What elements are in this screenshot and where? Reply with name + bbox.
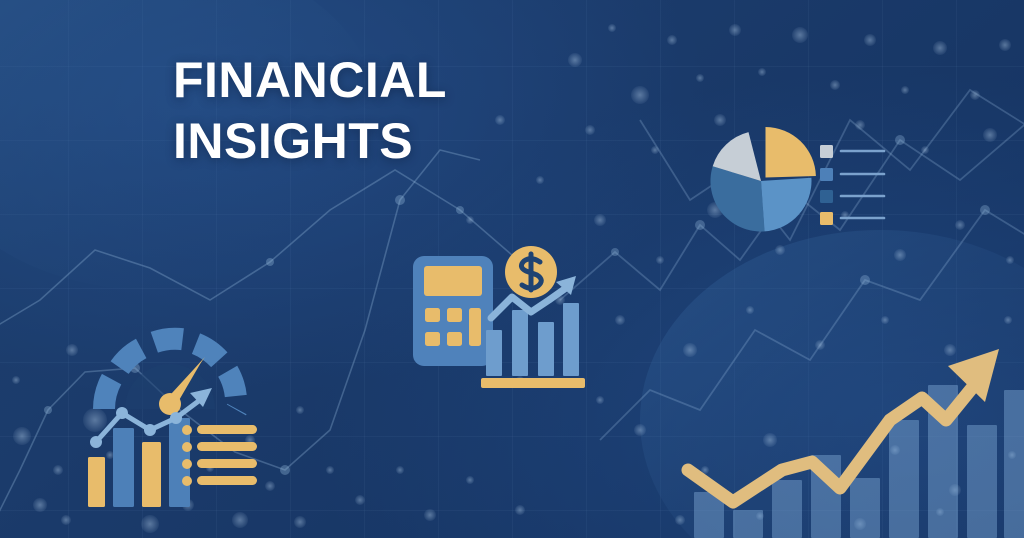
pie-legend — [820, 145, 884, 225]
title-line-1: FINANCIAL — [173, 50, 603, 111]
calculator-trend-arrow — [491, 276, 576, 318]
page-title: FINANCIAL INSIGHTS — [173, 50, 603, 172]
gauge-arc-inner — [125, 364, 215, 409]
background-line-chart-right — [560, 90, 1024, 440]
background-line-chart-left — [0, 150, 520, 530]
pie-slice-4 — [710, 166, 764, 231]
dollar-coin-icon — [505, 246, 557, 298]
legend-swatch-3 — [820, 190, 833, 203]
pie-slice-1 — [713, 132, 761, 181]
financial-insights-banner: FINANCIAL INSIGHTS — [0, 0, 1024, 538]
legend-swatch-2 — [820, 168, 833, 181]
gauge-needle — [159, 357, 205, 415]
background-line-markers-left — [44, 195, 464, 475]
legend-swatch-4 — [820, 212, 833, 225]
calculator-baseline — [481, 378, 585, 388]
gauge-mini-line — [90, 388, 212, 448]
growth-trend-arrow — [688, 349, 999, 502]
gauge-mini-bar-chart — [88, 418, 190, 507]
title-line-2: INSIGHTS — [173, 111, 603, 172]
pie-slice-2 — [766, 127, 816, 178]
legend-swatch-1 — [820, 145, 833, 158]
growth-bars — [694, 385, 1024, 538]
pie-slice-3 — [761, 178, 812, 232]
gauge-icon — [104, 339, 237, 410]
bulleted-list-icon — [182, 425, 257, 486]
background-line-markers-right — [611, 135, 990, 285]
calculator-bar-chart — [486, 303, 579, 376]
calculator-icon — [413, 256, 493, 366]
